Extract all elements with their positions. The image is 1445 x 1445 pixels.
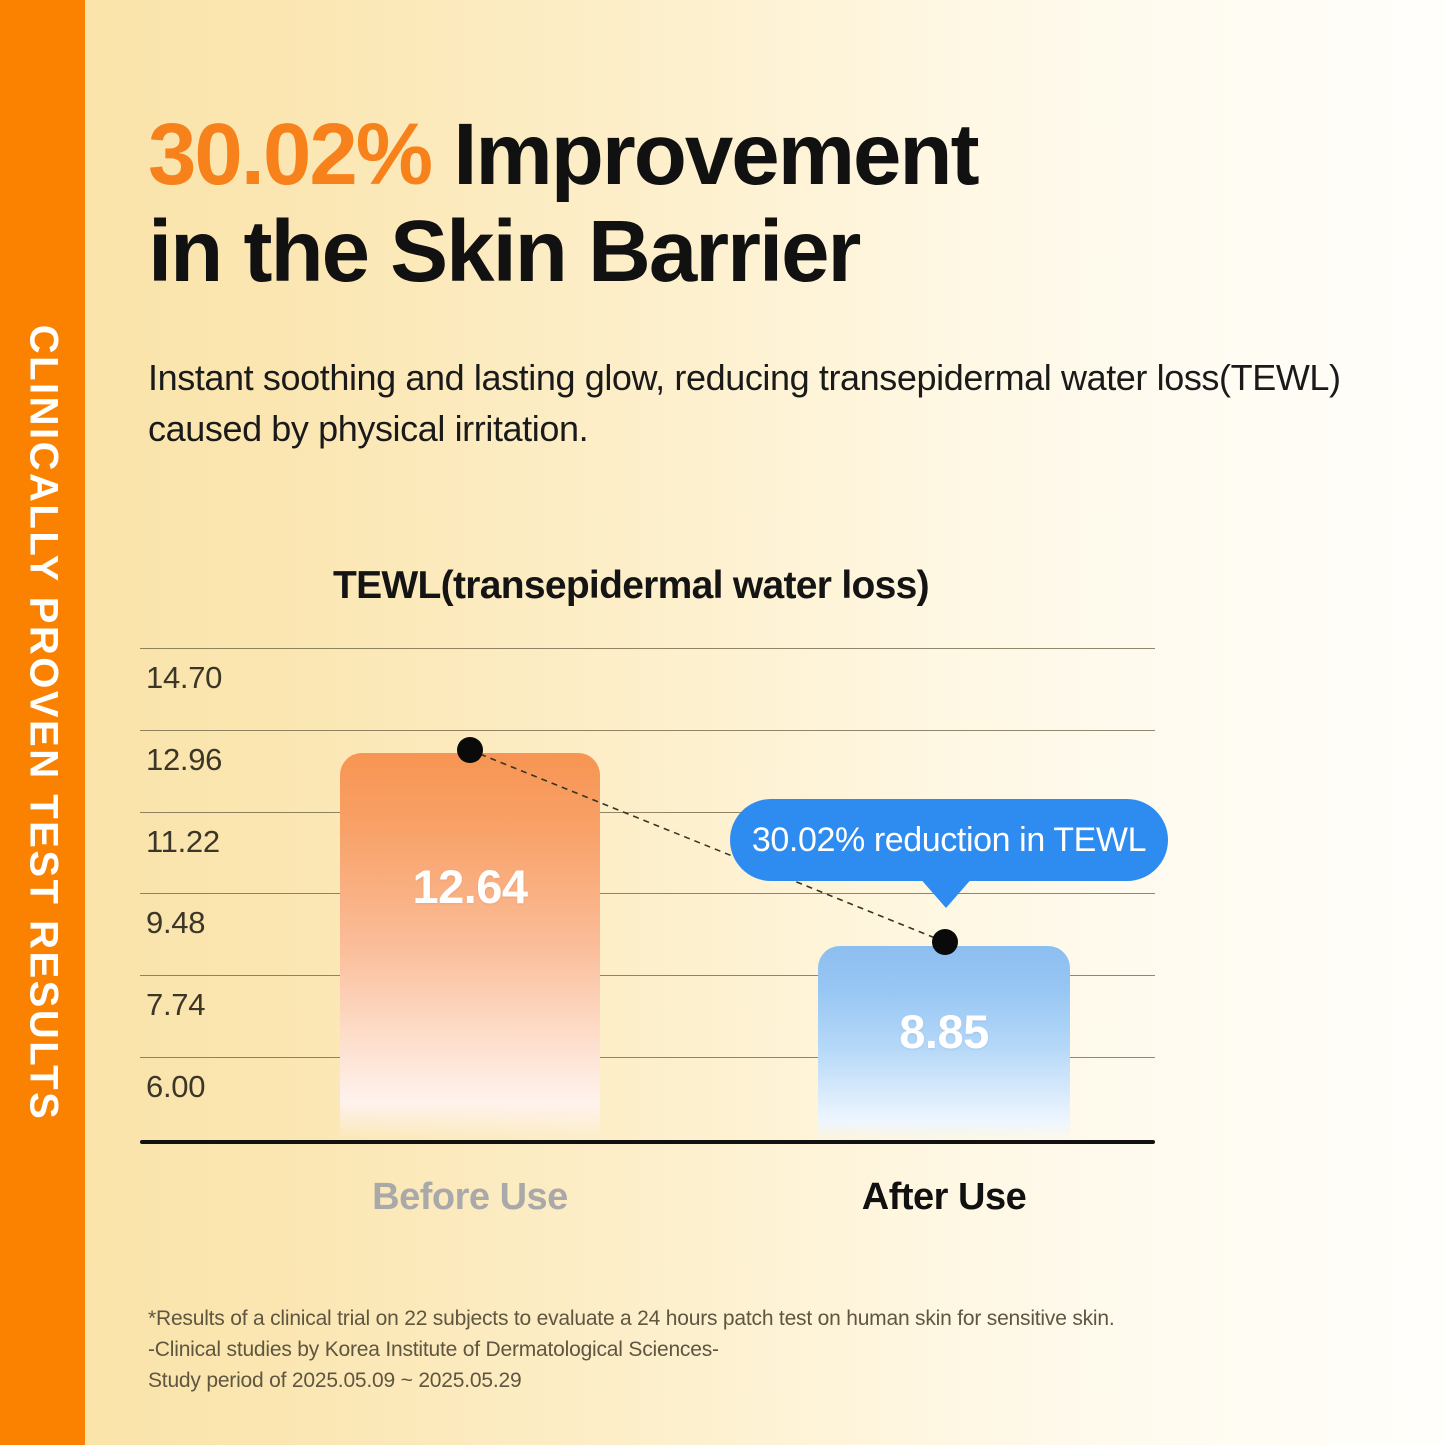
x-axis-baseline: [140, 1140, 1155, 1144]
bar-after-use: 8.85: [818, 946, 1070, 1141]
gridline: [140, 648, 1155, 649]
bar-before-use: 12.64: [340, 753, 600, 1141]
headline-rest: Improvement: [431, 106, 977, 203]
y-axis-tick: 12.96: [146, 742, 222, 778]
footnote-line-3: Study period of 2025.05.09 ~ 2025.05.29: [148, 1365, 1248, 1396]
x-axis-label-after: After Use: [818, 1176, 1070, 1219]
gridline: [140, 893, 1155, 894]
side-rail: CLINICALLY PROVEN TEST RESULTS: [0, 0, 85, 1445]
chart-plot-area: 14.70 12.96 11.22 9.48 7.74 6.00 12.64 8…: [140, 640, 1155, 1145]
callout-tail: [918, 876, 974, 908]
footnote-line-1: *Results of a clinical trial on 22 subje…: [148, 1303, 1248, 1334]
gridline: [140, 730, 1155, 731]
y-axis-tick: 7.74: [146, 987, 205, 1023]
data-point-after: [932, 929, 958, 955]
reduction-callout-label: 30.02% reduction in TEWL: [752, 821, 1146, 860]
footnote: *Results of a clinical trial on 22 subje…: [148, 1303, 1248, 1396]
headline-line2: in the Skin Barrier: [148, 203, 859, 300]
y-axis-tick: 11.22: [146, 824, 220, 860]
y-axis-tick: 14.70: [146, 660, 222, 696]
y-axis-tick: 6.00: [146, 1069, 205, 1105]
x-axis-label-before: Before Use: [340, 1176, 600, 1219]
bar-value-after: 8.85: [818, 1004, 1070, 1059]
subtitle: Instant soothing and lasting glow, reduc…: [148, 352, 1388, 454]
y-axis-tick: 9.48: [146, 905, 205, 941]
reduction-callout: 30.02% reduction in TEWL: [730, 799, 1168, 881]
bar-value-before: 12.64: [340, 859, 600, 914]
data-point-before: [457, 737, 483, 763]
page-title: 30.02% Improvement in the Skin Barrier: [148, 106, 1328, 301]
chart-title: TEWL(transepidermal water loss): [333, 564, 929, 608]
promo-canvas: CLINICALLY PROVEN TEST RESULTS 30.02% Im…: [0, 0, 1445, 1445]
headline-percent: 30.02%: [148, 106, 431, 203]
footnote-line-2: -Clinical studies by Korea Institute of …: [148, 1334, 1248, 1365]
side-rail-label: CLINICALLY PROVEN TEST RESULTS: [20, 324, 65, 1121]
